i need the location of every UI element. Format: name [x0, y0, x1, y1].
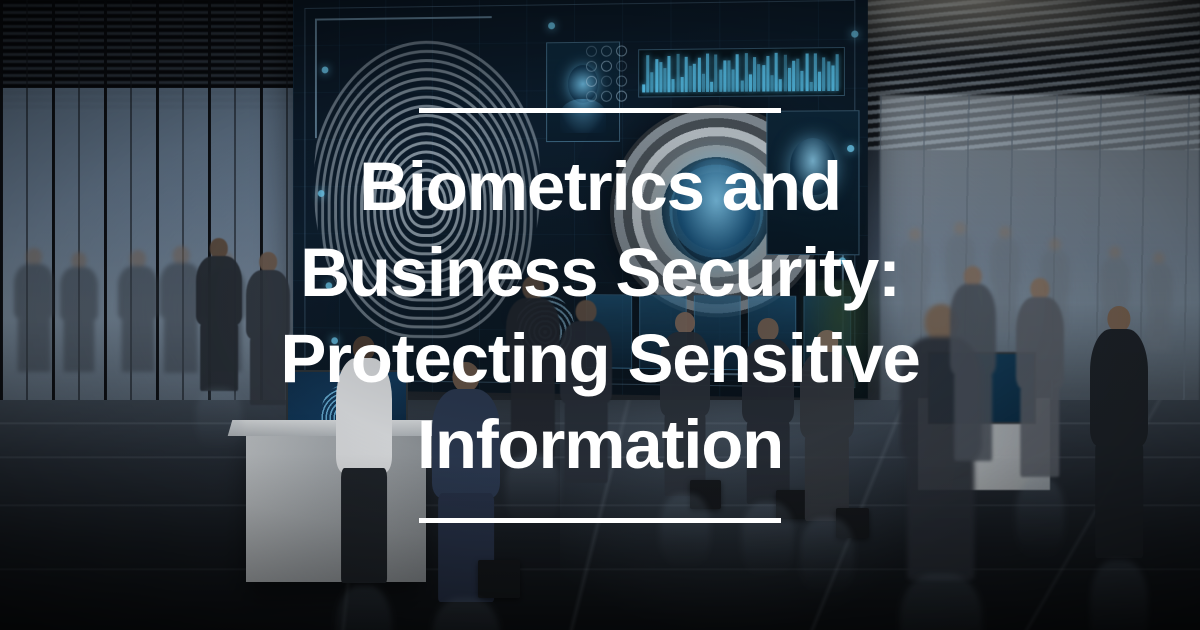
title-rule-top [419, 108, 781, 113]
article-hero-banner: Biometrics and Business Security: Protec… [0, 0, 1200, 630]
page-title: Biometrics and Business Security: Protec… [220, 144, 980, 488]
title-overlay: Biometrics and Business Security: Protec… [0, 0, 1200, 630]
title-rule-bottom [419, 518, 781, 523]
